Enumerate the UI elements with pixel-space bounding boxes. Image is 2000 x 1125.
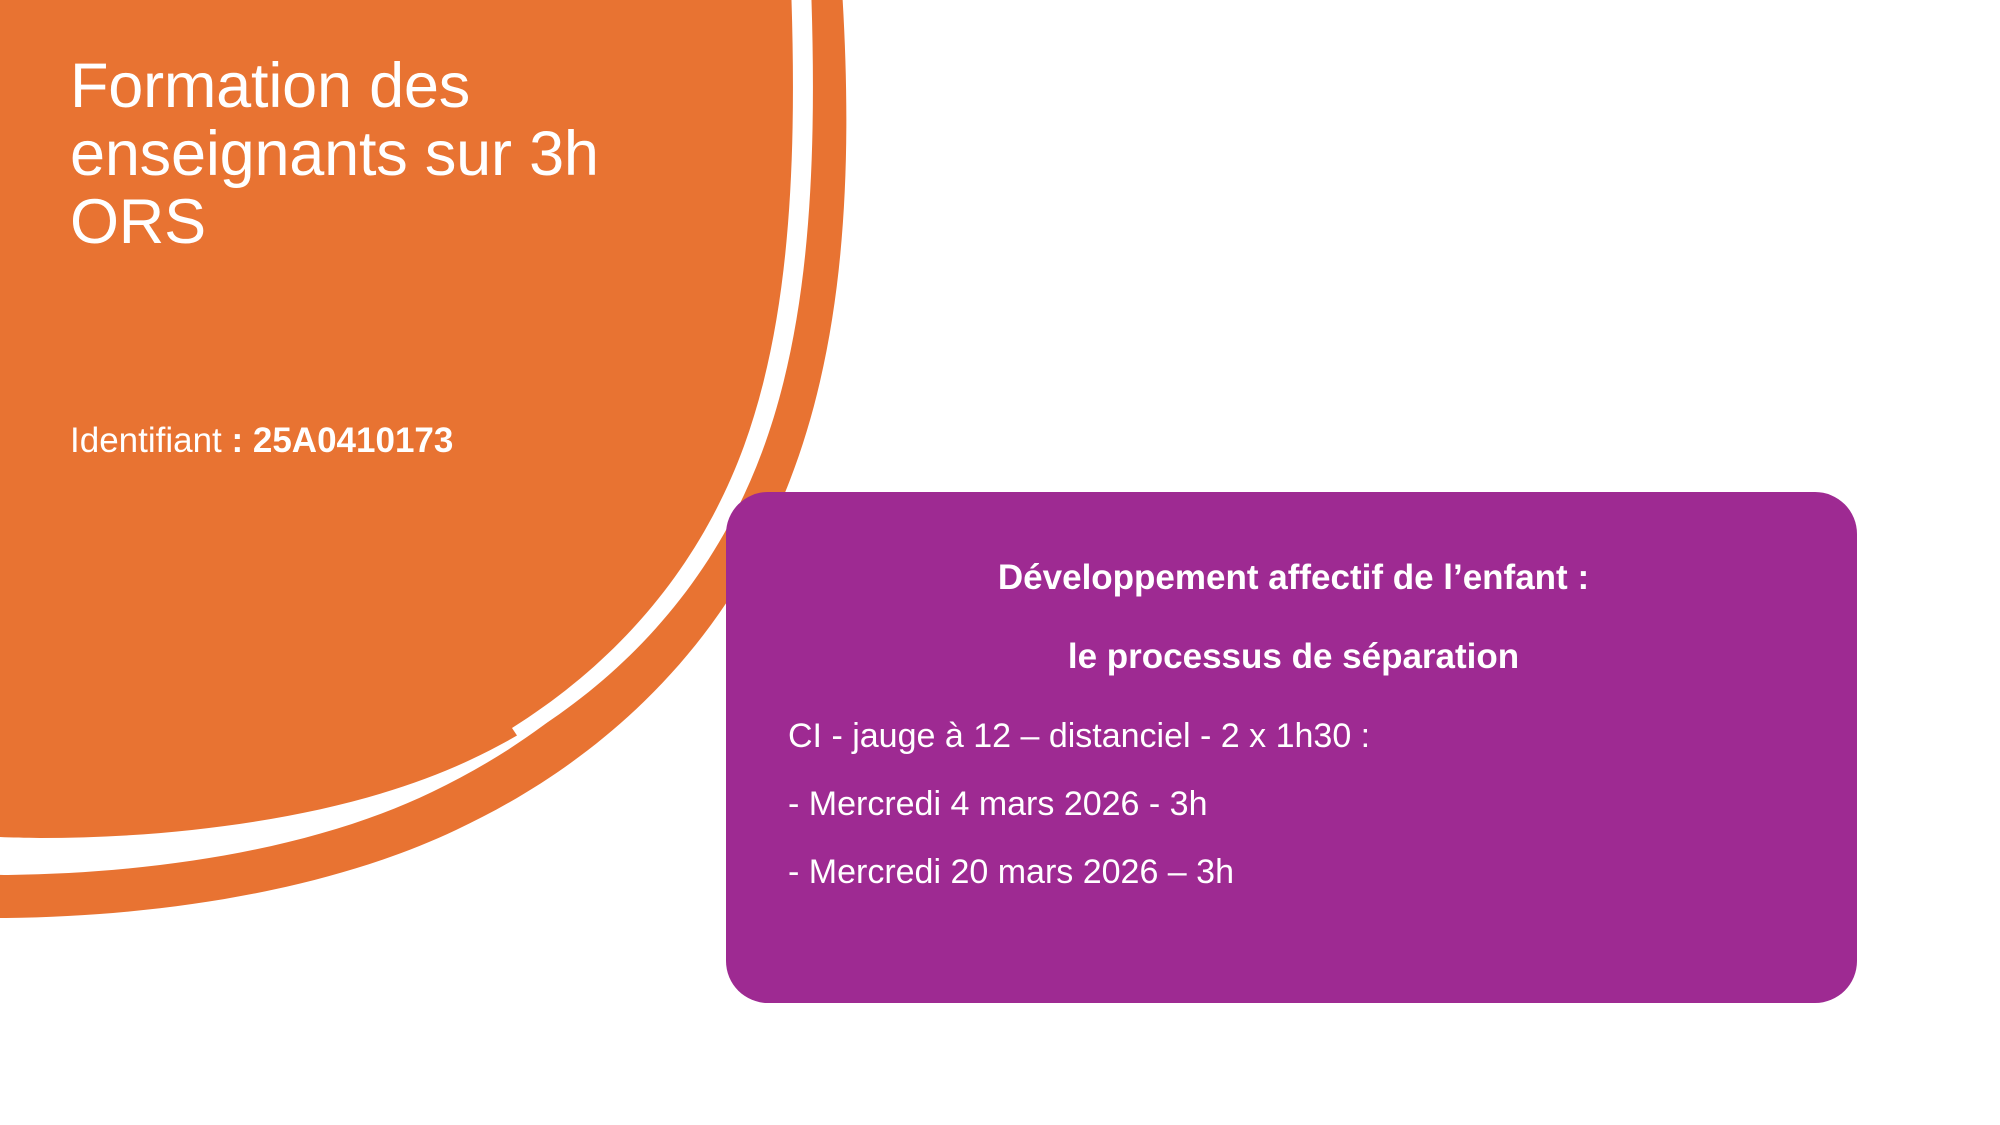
identifier-label: Identifiant <box>70 421 232 460</box>
identifier-value: : 25A0410173 <box>232 421 454 460</box>
slide-canvas: Formation des enseignants sur 3h ORS Ide… <box>0 0 2000 1125</box>
card-heading-line-2: le processus de séparation <box>766 639 1821 676</box>
session-info-card: Développement affectif de l’enfant : le … <box>726 492 1857 1003</box>
card-body-line-1: CI - jauge à 12 – distanciel - 2 x 1h30 … <box>788 716 1821 756</box>
card-heading-line-1: Développement affectif de l’enfant : <box>766 560 1821 597</box>
card-body-line-2: - Mercredi 4 mars 2026 - 3h <box>788 784 1821 824</box>
identifier-line: Identifiant : 25A0410173 <box>70 420 453 462</box>
page-title: Formation des enseignants sur 3h ORS <box>70 52 730 256</box>
title-block: Formation des enseignants sur 3h ORS <box>70 52 730 256</box>
card-body-line-3: - Mercredi 20 mars 2026 – 3h <box>788 852 1821 892</box>
